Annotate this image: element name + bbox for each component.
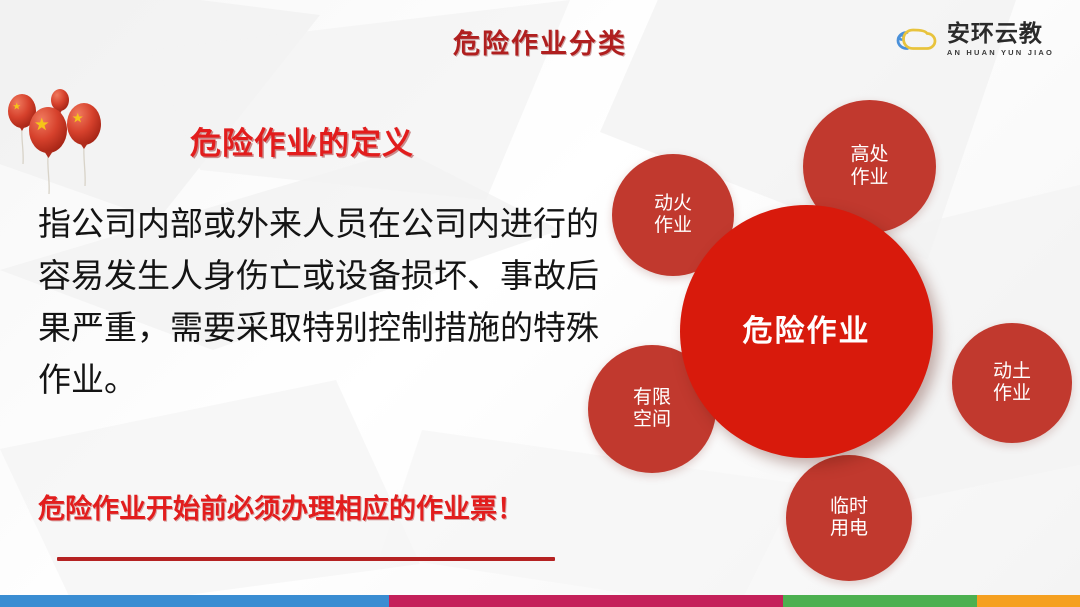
- bubble-temporary-power[interactable]: 临时用电: [786, 455, 912, 581]
- slide-canvas: 危险作业分类 安环云教 AN HUAN YUN JIAO: [0, 0, 1080, 607]
- color-segment-magenta: [389, 595, 783, 607]
- definition-body-text: 指公司内部或外来人员在公司内进行的容易发生人身伤亡或设备损坏、事故后果严重，需要…: [38, 198, 608, 407]
- bubble-center-hazardous-work[interactable]: 危险作业: [680, 205, 933, 458]
- bottom-color-bar: [0, 595, 1080, 607]
- hazard-bubble-diagram: 动火作业 高处作业 动土作业 临时用电 有限空间 危险作业: [570, 70, 1080, 580]
- section-heading: 危险作业的定义: [190, 118, 414, 163]
- emphasis-note: 危险作业开始前必须办理相应的作业票！: [38, 487, 524, 526]
- logo-name-cn: 安环云教: [947, 22, 1054, 45]
- cloud-icon: [892, 22, 938, 56]
- bubble-label: 临时用电: [830, 496, 868, 541]
- bubble-label: 有限空间: [633, 387, 671, 432]
- bubble-label: 动土作业: [993, 361, 1031, 406]
- bubble-excavation-work[interactable]: 动土作业: [952, 323, 1072, 443]
- red-divider: [57, 557, 555, 561]
- bubble-label: 高处作业: [850, 144, 888, 189]
- bubble-label: 动火作业: [654, 193, 692, 238]
- color-segment-orange: [977, 595, 1080, 607]
- brand-logo: 安环云教 AN HUAN YUN JIAO: [892, 22, 1054, 57]
- color-segment-blue: [0, 595, 389, 607]
- logo-name-en: AN HUAN YUN JIAO: [947, 49, 1054, 57]
- bubble-center-label: 危险作业: [743, 314, 871, 349]
- logo-text-block: 安环云教 AN HUAN YUN JIAO: [947, 22, 1054, 57]
- balloons-icon: [0, 78, 130, 198]
- color-segment-green: [783, 595, 977, 607]
